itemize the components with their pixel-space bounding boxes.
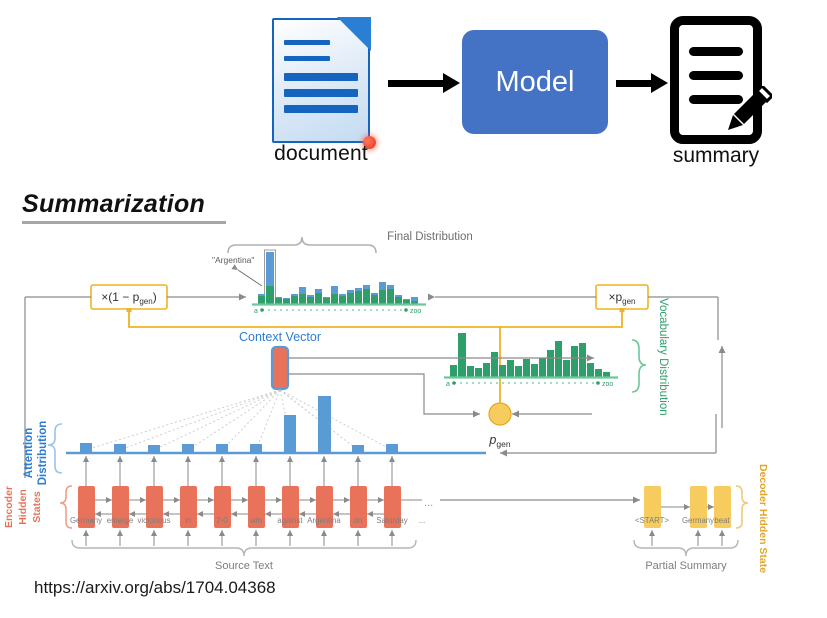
document-text-line xyxy=(284,56,330,61)
summary-word: beat xyxy=(714,516,730,525)
source-word: win xyxy=(249,516,262,525)
model-label: Model xyxy=(496,66,575,99)
source-word: Saturday xyxy=(376,516,407,525)
summary-word: <START> xyxy=(635,516,669,525)
source-word: emerge xyxy=(107,516,133,525)
partial-summary-label: Partial Summary xyxy=(645,560,727,572)
document-icon xyxy=(272,18,370,143)
encoder-hidden-states-line3: States xyxy=(31,491,43,523)
document-text-line xyxy=(284,40,330,45)
section-title-underline xyxy=(22,221,226,224)
decoder-hidden-states-title: Decoder Hidden States xyxy=(757,464,769,573)
summary-text-line xyxy=(689,71,743,80)
source-url[interactable]: https://arxiv.org/abs/1704.04368 xyxy=(34,578,276,598)
source-word: ... xyxy=(419,516,426,525)
pgen-circle xyxy=(489,403,511,425)
model-box: Model xyxy=(462,30,608,134)
source-word: in xyxy=(185,516,191,525)
right-arrow-icon xyxy=(388,76,460,90)
summary-word-labels: <START> Germany beat xyxy=(635,516,730,525)
source-word-labels: Germany emerge victorious in 2-0 win aga… xyxy=(70,516,425,525)
pencil-icon xyxy=(724,86,772,134)
attention-distribution-chart xyxy=(66,396,486,453)
section-title: Summarization xyxy=(22,190,226,224)
document-text-line xyxy=(284,89,358,97)
context-vector-box xyxy=(272,347,288,389)
final-distribution-chart: a zoo xyxy=(252,250,426,315)
final-distribution-title: Final Distribution xyxy=(387,231,473,243)
source-word: on xyxy=(354,516,363,525)
encoder-ellipsis: ... xyxy=(424,497,433,509)
final-dist-axis-start: a xyxy=(254,308,258,315)
context-vector-label: Context Vector xyxy=(239,330,321,344)
summary-word: Germany xyxy=(682,516,714,525)
final-dist-axis-end: zoo xyxy=(410,308,421,315)
encoder-hidden-states-line1: Encoder xyxy=(3,486,15,528)
section-title-text: Summarization xyxy=(22,190,226,219)
source-word: Germany xyxy=(70,516,102,525)
summary-document-pencil-icon xyxy=(670,16,762,144)
pointer-generator-diagram: Final Distribution "Argentina" xyxy=(0,228,827,573)
argentina-callout-label: "Argentina" xyxy=(212,255,254,265)
vocab-axis-start: a xyxy=(446,381,450,388)
source-word: against xyxy=(277,516,303,525)
vocab-axis-end: zoo xyxy=(602,381,613,388)
source-text-label: Source Text xyxy=(215,560,273,572)
document-text-line xyxy=(284,105,358,113)
diagram-svg: Final Distribution "Argentina" xyxy=(0,228,827,573)
source-word: Argentina xyxy=(307,516,341,525)
summary-text-line xyxy=(689,47,743,56)
right-arrow-icon xyxy=(616,76,668,90)
pgen-label: pgen xyxy=(488,433,510,449)
encoder-hidden-states-line2: Hidden xyxy=(17,489,29,525)
vocabulary-distribution-title: Vocabulary Distribution xyxy=(657,298,669,416)
vocabulary-distribution-chart: a zoo xyxy=(444,333,618,388)
attention-distribution-title-line1: Attention xyxy=(23,428,35,478)
source-word: 2-0 xyxy=(216,516,228,525)
summary-label: summary xyxy=(658,144,774,168)
document-text-line xyxy=(284,73,358,81)
document-label: document xyxy=(258,142,384,166)
source-word: victorious xyxy=(138,516,171,525)
attention-distribution-title-line2: Distribution xyxy=(37,421,49,486)
top-pipeline: document Model summary xyxy=(0,0,827,180)
